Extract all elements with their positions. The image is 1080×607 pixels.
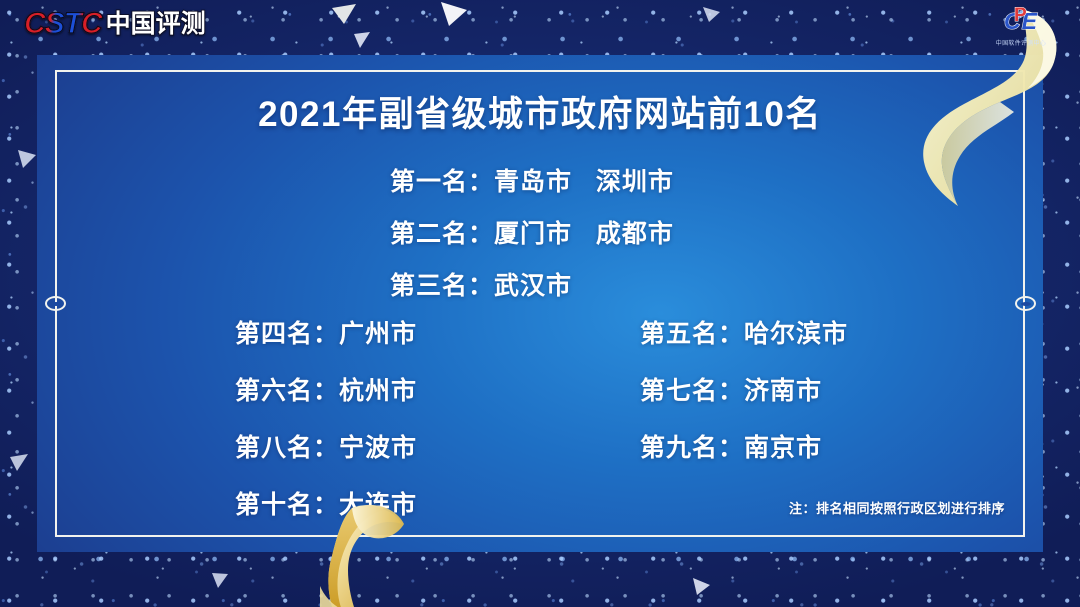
rank-cities: 武汉市 — [494, 266, 572, 302]
rank-row: 第九名： 南京市 — [640, 428, 845, 464]
rank-label: 第九名： — [640, 428, 744, 464]
rank-city: 广州市 — [339, 314, 417, 350]
top-three-list: 第一名： 青岛市 深圳市 第二名： 厦门市 成都市 第三名： 武汉市 — [0, 162, 1080, 318]
rank-city: 济南市 — [744, 371, 822, 407]
rank-row: 第十名： 大连市 — [235, 485, 440, 521]
rank-label: 第十名： — [235, 485, 339, 521]
slide-content: 2021年副省级城市政府网站前10名 第一名： 青岛市 深圳市 第二名： 厦门市… — [0, 0, 1080, 607]
rank-label: 第七名： — [640, 371, 744, 407]
cstc-logo-mark: CSTC — [24, 9, 102, 39]
rank-label: 第六名： — [235, 371, 339, 407]
rank-row: 第二名： 厦门市 成都市 — [0, 214, 1080, 250]
rank-row: 第一名： 青岛市 深圳市 — [0, 162, 1080, 198]
cstc-logo-cn: 中国评测 — [106, 12, 206, 37]
cpe-logo: CE P 中国软件评测中心 — [984, 6, 1058, 48]
rank-city: 大连市 — [339, 485, 417, 521]
slide-canvas: CSTC 中国评测 CE P 中国软件评测中心 — [0, 0, 1080, 607]
rank-row: 第五名： 哈尔滨市 — [640, 314, 845, 350]
rank-label: 第八名： — [235, 428, 339, 464]
rank-row: 第八名： 宁波市 — [235, 428, 440, 464]
header-bar: CSTC 中国评测 CE P 中国软件评测中心 — [0, 0, 1080, 52]
rank-label: 第三名： — [390, 266, 494, 302]
rank-city: 宁波市 — [339, 428, 417, 464]
rank-label: 第四名： — [235, 314, 339, 350]
rank-row: 第六名： 杭州市 — [235, 371, 440, 407]
cpe-logo-p: P — [1014, 5, 1027, 27]
rank-label: 第一名： — [390, 162, 494, 198]
rank-column-left: 第四名： 广州市 第六名： 杭州市 第八名： 宁波市 第十名： 大连市 — [235, 314, 440, 542]
cstc-logo: CSTC 中国评测 — [24, 9, 206, 39]
rank-row: 第三名： 武汉市 — [0, 266, 1080, 302]
rank-cities: 青岛市 深圳市 — [494, 162, 674, 198]
rank-city: 哈尔滨市 — [744, 314, 848, 350]
rank-row: 第四名： 广州市 — [235, 314, 440, 350]
rank-row: 第七名： 济南市 — [640, 371, 845, 407]
rank-cities: 厦门市 成都市 — [494, 214, 674, 250]
rank-label: 第五名： — [640, 314, 744, 350]
page-title: 2021年副省级城市政府网站前10名 — [0, 86, 1080, 137]
rank-city: 杭州市 — [339, 371, 417, 407]
cpe-logo-sub: 中国软件评测中心 — [984, 38, 1058, 47]
rank-city: 南京市 — [744, 428, 822, 464]
footnote: 注：排名相同按照行政区划进行排序 — [789, 498, 1005, 517]
rank-label: 第二名： — [390, 214, 494, 250]
